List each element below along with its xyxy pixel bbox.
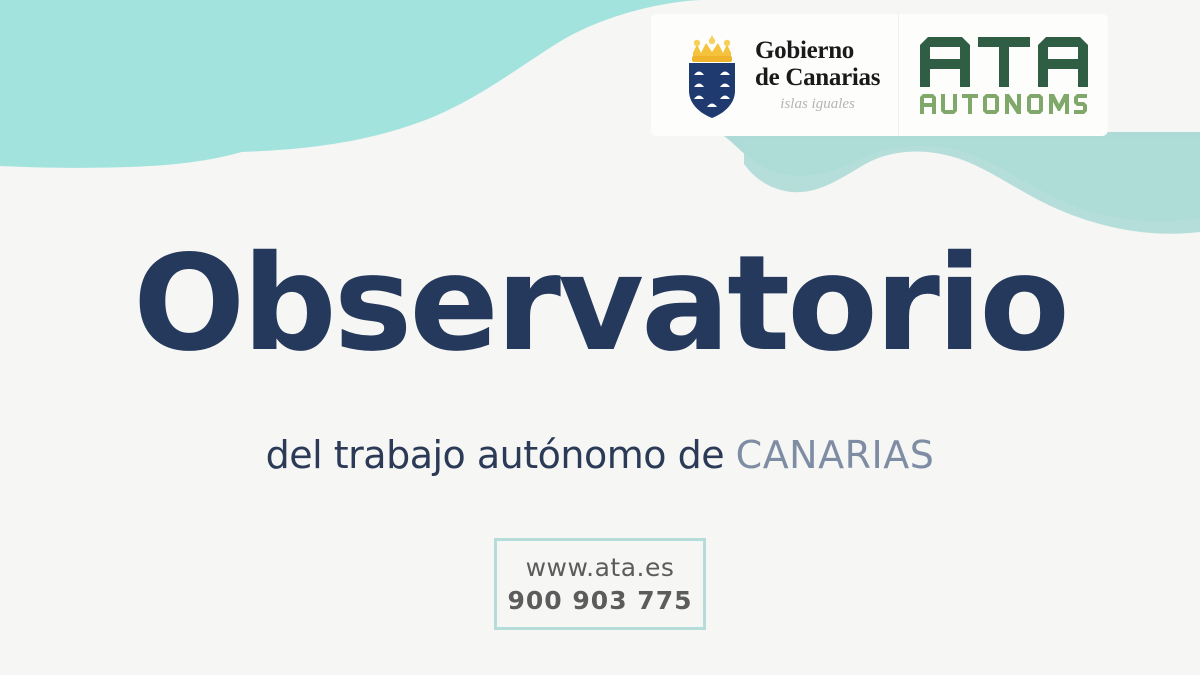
gobierno-text-block: Gobierno de Canarias islas iguales: [755, 38, 880, 112]
contact-phone[interactable]: 900 903 775: [508, 584, 693, 617]
ata-autonomos-logo: [905, 37, 1102, 114]
ata-wordmark-icon: [918, 37, 1090, 87]
ata-autonomos-subtitle-icon: [918, 92, 1090, 114]
page-subtitle-region: CANARIAS: [736, 433, 935, 477]
contact-box[interactable]: www.ata.es 900 903 775: [494, 538, 706, 630]
contact-website[interactable]: www.ata.es: [526, 551, 675, 584]
institutional-logo-card: Gobierno de Canarias islas iguales: [651, 14, 1108, 136]
logo-card-divider: [898, 14, 899, 136]
page-subtitle-prefix: del trabajo autónomo de: [266, 433, 736, 477]
wave-top-left-shape: [0, 0, 560, 168]
gobierno-tagline: islas iguales: [755, 97, 880, 112]
gobierno-line-1: Gobierno: [755, 38, 880, 63]
page-subtitle: del trabajo autónomo de CANARIAS: [0, 436, 1200, 474]
canary-islands-coat-of-arms-icon: [681, 31, 743, 119]
gobierno-line-2: de Canarias: [755, 65, 880, 90]
wave-top-left-shape-upper: [0, 0, 700, 153]
presentation-slide: Gobierno de Canarias islas iguales: [0, 0, 1200, 675]
page-title: Observatorio: [0, 238, 1200, 370]
gobierno-de-canarias-logo: Gobierno de Canarias islas iguales: [681, 31, 880, 119]
